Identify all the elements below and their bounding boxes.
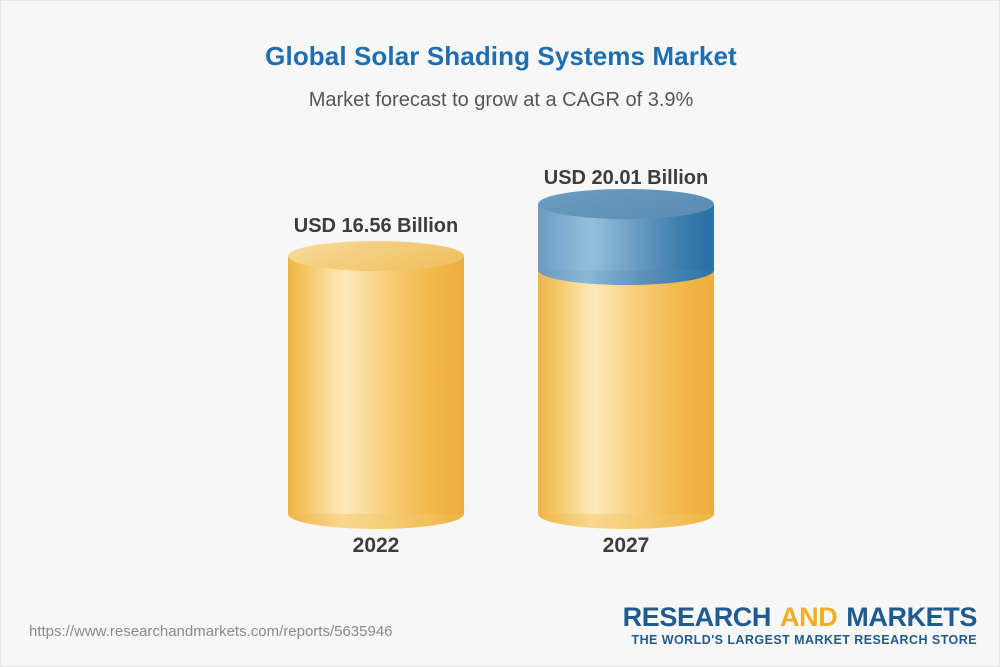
segment-side-wall [538, 270, 714, 514]
bar-segment-base-2027 [538, 270, 714, 514]
infographic-chart: Global Solar Shading Systems Market Mark… [0, 0, 1000, 667]
logo-word-research: RESEARCH [623, 602, 771, 632]
data-label-2027: USD 20.01 Billion [506, 167, 746, 190]
logo-wordmark: RESEARCHANDMARKETS [623, 603, 977, 631]
bar-segment-growth-2027 [538, 204, 714, 270]
segment-top-face [288, 241, 464, 271]
data-label-2022: USD 16.56 Billion [256, 215, 496, 238]
source-url[interactable]: https://www.researchandmarkets.com/repor… [29, 623, 393, 640]
bar-segment-base-2022 [288, 256, 464, 514]
segment-top-face [538, 189, 714, 219]
research-and-markets-logo[interactable]: RESEARCHANDMARKETS THE WORLD'S LARGEST M… [623, 603, 977, 647]
segment-side-wall [288, 256, 464, 514]
logo-word-markets: MARKETS [846, 602, 977, 632]
plot-area: USD 16.56 Billion 2022 USD 20.01 Billion [1, 1, 1000, 667]
cylinder-bar-2027 [538, 219, 714, 514]
cylinder-bar-2022 [288, 256, 464, 514]
category-label-2027: 2027 [536, 534, 716, 558]
logo-word-and: AND [780, 602, 837, 632]
logo-tagline: THE WORLD'S LARGEST MARKET RESEARCH STOR… [623, 633, 977, 647]
category-label-2022: 2022 [286, 534, 466, 558]
